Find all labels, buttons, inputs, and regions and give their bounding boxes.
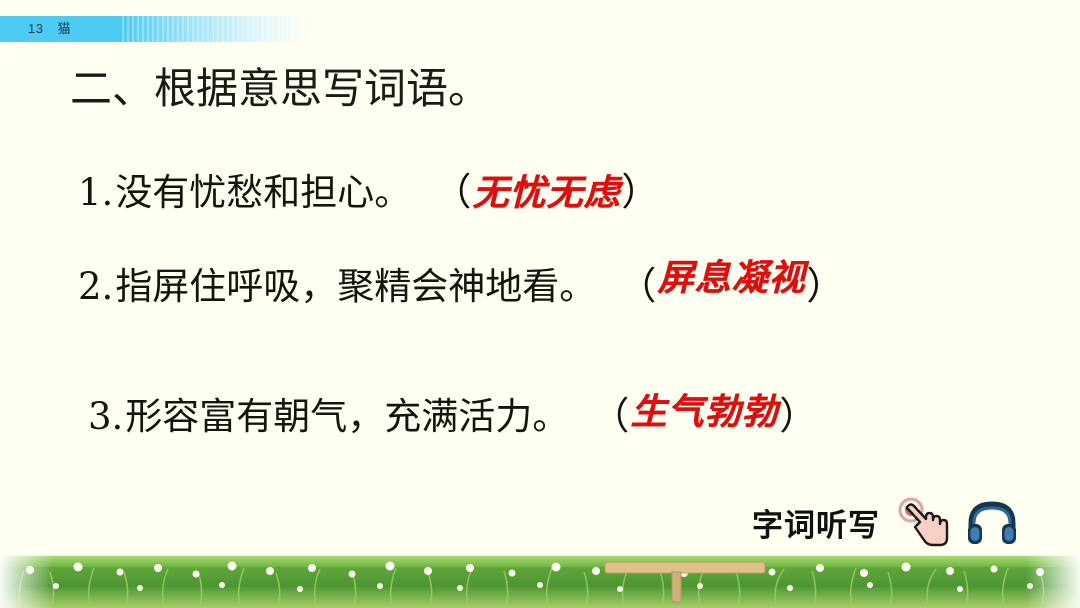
dictation-button[interactable]: 字词听写: [752, 496, 1018, 548]
close-paren-1: ）: [621, 172, 659, 214]
open-paren-3: （: [591, 396, 629, 438]
question-prompt-1: 没有忧愁和担心。: [115, 173, 411, 214]
pointing-hand-tap-icon[interactable]: [894, 496, 952, 548]
open-paren-2: （: [618, 266, 656, 308]
answer-group-2: （ 屏息凝视 ）: [618, 266, 844, 308]
answer-text-3: 生气勃勃: [629, 393, 779, 433]
answer-group-1: （ 无忧无虑 ）: [433, 172, 659, 214]
lesson-number: 13: [28, 21, 43, 36]
question-item-1: 1. 没有忧愁和担心。 （ 无忧无虑 ）: [78, 172, 659, 214]
open-paren-1: （: [433, 172, 471, 214]
section-title: 二、根据意思写词语。: [70, 65, 490, 113]
question-prompt-2: 指屏住呼吸，聚精会神地看。: [115, 267, 596, 308]
grass-meadow-banner: [0, 550, 1080, 608]
slide-canvas: 13猫 二、根据意思写词语。 1. 没有忧愁和担心。 （ 无忧无虑 ） 2. 指…: [0, 0, 1080, 608]
answer-text-2: 屏息凝视: [656, 259, 806, 299]
lesson-header-label: 13猫: [28, 17, 71, 41]
question-number-2: 2.: [78, 267, 113, 308]
close-paren-2: ）: [806, 266, 844, 308]
headphones-icon[interactable]: [966, 497, 1018, 547]
question-number-3: 3.: [88, 397, 123, 438]
lesson-title: 猫: [57, 21, 71, 36]
question-prompt-3: 形容富有朝气，充满活力。: [125, 397, 569, 438]
question-item-2: 2. 指屏住呼吸，聚精会神地看。 （ 屏息凝视 ）: [78, 266, 844, 308]
dictation-label: 字词听写: [752, 500, 880, 545]
answer-group-3: （ 生气勃勃 ）: [591, 396, 817, 438]
close-paren-3: ）: [779, 396, 817, 438]
question-number-1: 1.: [78, 173, 113, 214]
question-item-3: 3. 形容富有朝气，充满活力。 （ 生气勃勃 ）: [88, 396, 817, 438]
answer-text-1: 无忧无虑: [471, 174, 621, 214]
